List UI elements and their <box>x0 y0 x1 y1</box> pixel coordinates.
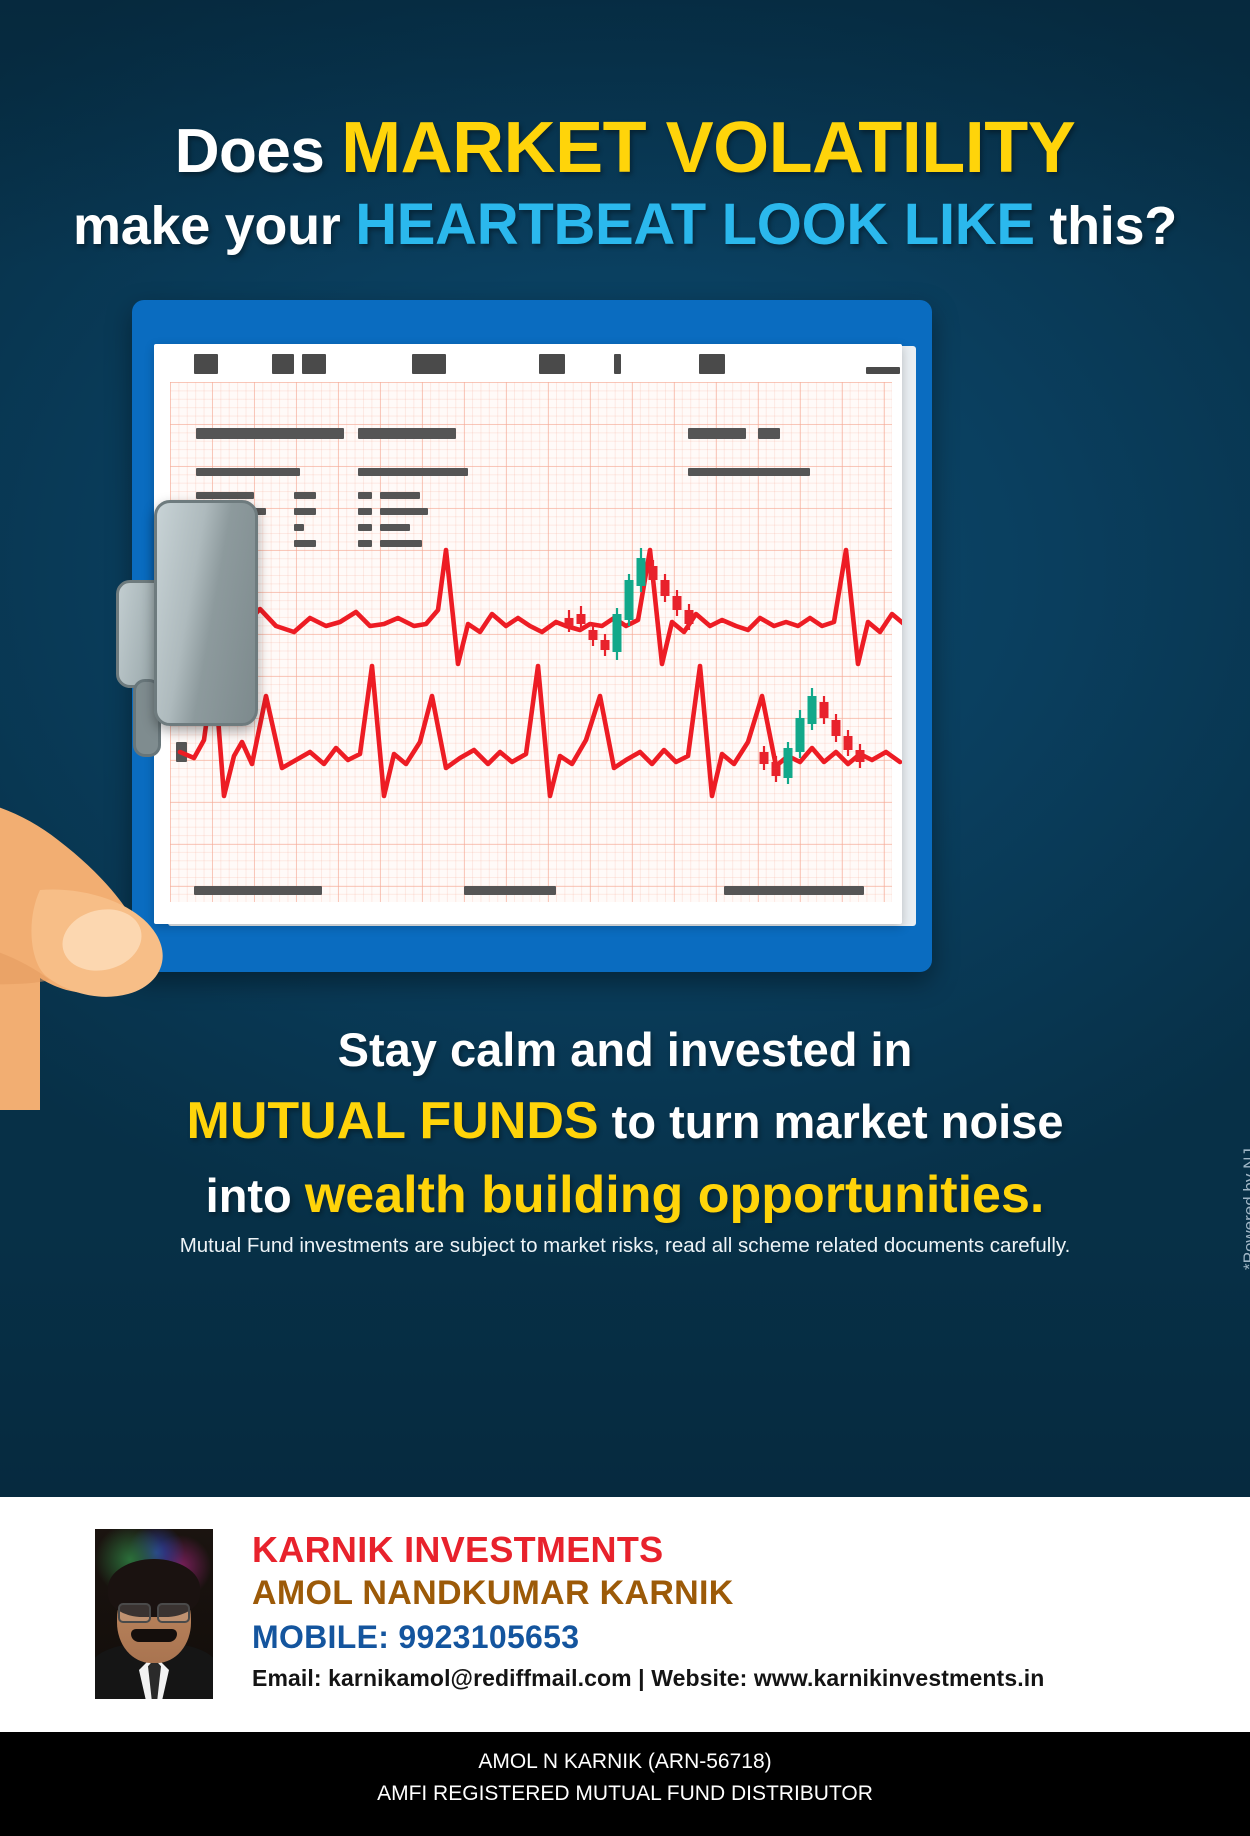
ecg-trace <box>180 550 902 664</box>
headline-line2-emphasis: HEARTBEAT LOOK LIKE <box>355 192 1035 257</box>
footer-band: AMOL N KARNIK (ARN-56718) AMFI REGISTERE… <box>0 1732 1250 1836</box>
glasses-left-lens <box>118 1603 151 1623</box>
headline-line1-prefix: Does <box>175 117 341 186</box>
avatar-moustache <box>131 1629 177 1642</box>
footer-amfi: AMFI REGISTERED MUTUAL FUND DISTRIBUTOR <box>0 1782 1250 1806</box>
headline-line-2: make your HEARTBEAT LOOK LIKE this? <box>0 196 1250 254</box>
candle-body <box>625 580 634 620</box>
tagline-line2-rest: to turn market noise <box>599 1095 1064 1148</box>
tagline-line3-prefix: into <box>206 1169 305 1222</box>
candle-body <box>808 696 817 724</box>
candle-body <box>784 748 793 778</box>
clipboard-clip-icon <box>116 500 256 720</box>
candle-body <box>685 610 694 624</box>
hand-illustration <box>0 690 290 1110</box>
tagline-line3-emphasis: wealth building opportunities. <box>305 1166 1045 1224</box>
candle-body <box>577 614 586 624</box>
candle-body <box>673 596 682 610</box>
candle-body <box>601 640 610 650</box>
candle-body <box>637 558 646 586</box>
candle-body <box>649 566 658 580</box>
company-name: KARNIK INVESTMENTS <box>252 1529 663 1571</box>
candle-body <box>772 762 781 776</box>
poster-root: Does MARKET VOLATILITY make your HEARTBE… <box>0 0 1250 1836</box>
powered-by-label: *Powered by NJ <box>1240 1090 1250 1270</box>
risk-disclaimer: Mutual Fund investments are subject to m… <box>0 1234 1250 1258</box>
candle-body <box>613 614 622 652</box>
email-and-website[interactable]: Email: karnikamol@rediffmail.com | Websi… <box>252 1665 1044 1692</box>
headline: Does MARKET VOLATILITY make your HEARTBE… <box>0 112 1250 254</box>
advisor-name: AMOL NANDKUMAR KARNIK <box>252 1574 734 1613</box>
contact-band: KARNIK INVESTMENTS AMOL NANDKUMAR KARNIK… <box>0 1497 1250 1732</box>
headline-line1-emphasis: MARKET VOLATILITY <box>341 108 1075 188</box>
avatar <box>95 1529 213 1699</box>
candle-body <box>796 718 805 752</box>
glasses-icon <box>118 1603 190 1619</box>
headline-line2-suffix: this? <box>1035 196 1177 256</box>
headline-line-1: Does MARKET VOLATILITY <box>0 112 1250 184</box>
headline-line2-prefix: make your <box>73 196 355 256</box>
candle-body <box>661 580 670 596</box>
candle-body <box>760 752 769 764</box>
candle-body <box>856 750 865 762</box>
footer-arn: AMOL N KARNIK (ARN-56718) <box>0 1750 1250 1774</box>
glasses-right-lens <box>157 1603 190 1623</box>
candle-body <box>832 720 841 736</box>
candle-body <box>844 736 853 750</box>
tagline-line-3: into wealth building opportunities. <box>0 1165 1250 1225</box>
candle-body <box>589 630 598 640</box>
candle-body <box>565 618 574 626</box>
mobile-number[interactable]: MOBILE: 9923105653 <box>252 1619 579 1656</box>
candle-body <box>820 702 829 718</box>
